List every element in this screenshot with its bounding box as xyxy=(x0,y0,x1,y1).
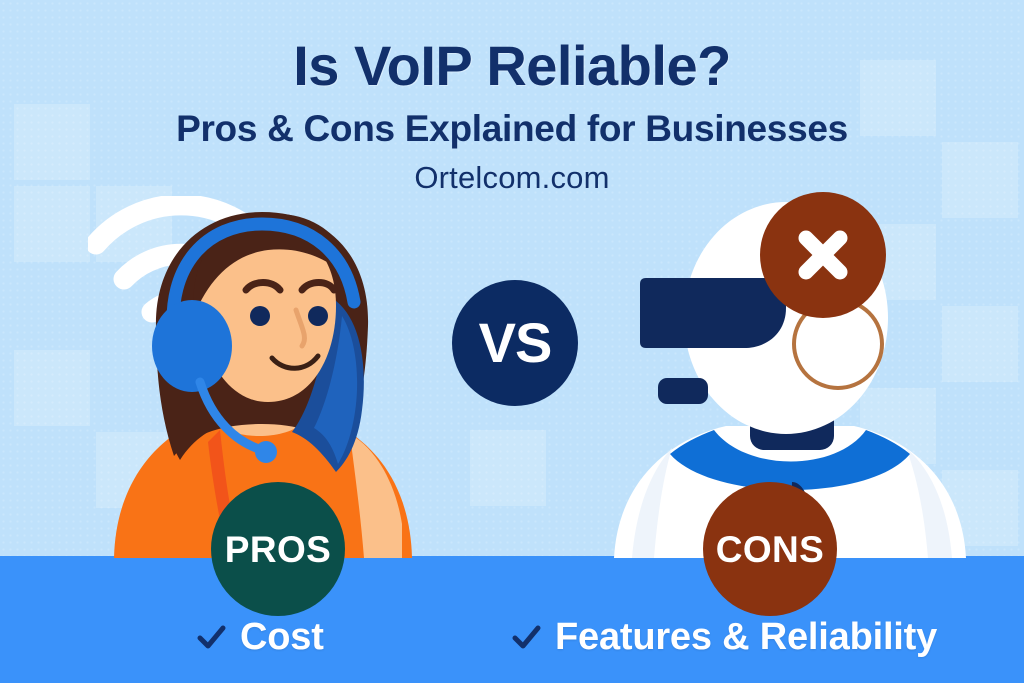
footer-item-cons: Features & Reliability xyxy=(511,618,937,656)
cons-badge: CONS xyxy=(703,482,837,616)
footer-pros-label: Cost xyxy=(240,618,324,656)
page-subtitle: Pros & Cons Explained for Businesses xyxy=(0,108,1024,151)
pros-badge-label: PROS xyxy=(225,531,331,568)
check-icon xyxy=(196,622,226,652)
pros-badge: PROS xyxy=(211,482,345,616)
cons-badge-label: CONS xyxy=(716,531,825,568)
vs-label: VS xyxy=(479,315,552,371)
vs-badge: VS xyxy=(452,280,578,406)
infographic-canvas: Is VoIP Reliable? Pros & Cons Explained … xyxy=(0,0,1024,683)
footer-cons-label: Features & Reliability xyxy=(555,618,937,656)
check-icon xyxy=(511,622,541,652)
header-block: Is VoIP Reliable? Pros & Cons Explained … xyxy=(0,36,1024,196)
x-mark-icon xyxy=(788,220,858,290)
footer-labels: Cost Features & Reliability xyxy=(0,618,1024,680)
footer-item-pros: Cost xyxy=(196,618,324,656)
page-title: Is VoIP Reliable? xyxy=(0,36,1024,96)
site-name: Ortelcom.com xyxy=(0,159,1024,196)
x-mark-badge xyxy=(760,192,886,318)
